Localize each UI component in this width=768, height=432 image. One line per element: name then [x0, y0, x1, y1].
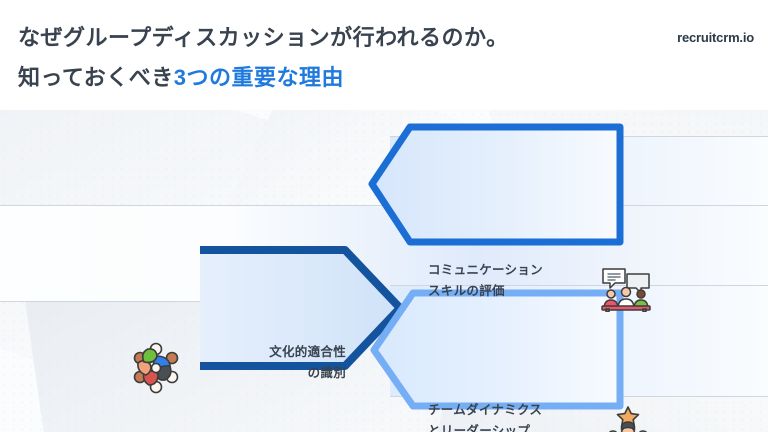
title-line-2: 知っておくべき3つの重要な理由 [18, 58, 638, 98]
chevron-shape-bottom [374, 293, 620, 406]
title-line-1: なぜグループディスカッションが行われるのか。 [18, 18, 638, 58]
meeting-discussion-icon [600, 266, 652, 317]
page-title: なぜグループディスカッションが行われるのか。 知っておくべき3つの重要な理由 [18, 18, 638, 98]
title-line-2-accent: 3つの重要な理由 [174, 65, 344, 90]
brand-logo-text: recruitcrm.io [677, 30, 754, 45]
leadership-star-icon [604, 406, 652, 432]
chevron-shape-top [372, 127, 620, 242]
diagram-stage: コミュニケーション スキルの評価 文化的適合性 の識別 チームダイナミクス とリ… [0, 110, 768, 432]
title-line-2-plain: 知っておくべき [18, 65, 174, 90]
band-top-label: コミュニケーション スキルの評価 [428, 260, 543, 302]
chevron-layer [0, 110, 768, 432]
band-middle-label: 文化的適合性 の識別 [226, 342, 346, 384]
band-bottom-label: チームダイナミクス とリーダーシップ の観察 [428, 400, 542, 432]
teamwork-circle-icon [130, 342, 182, 399]
header: なぜグループディスカッションが行われるのか。 知っておくべき3つの重要な理由 r… [0, 0, 768, 110]
